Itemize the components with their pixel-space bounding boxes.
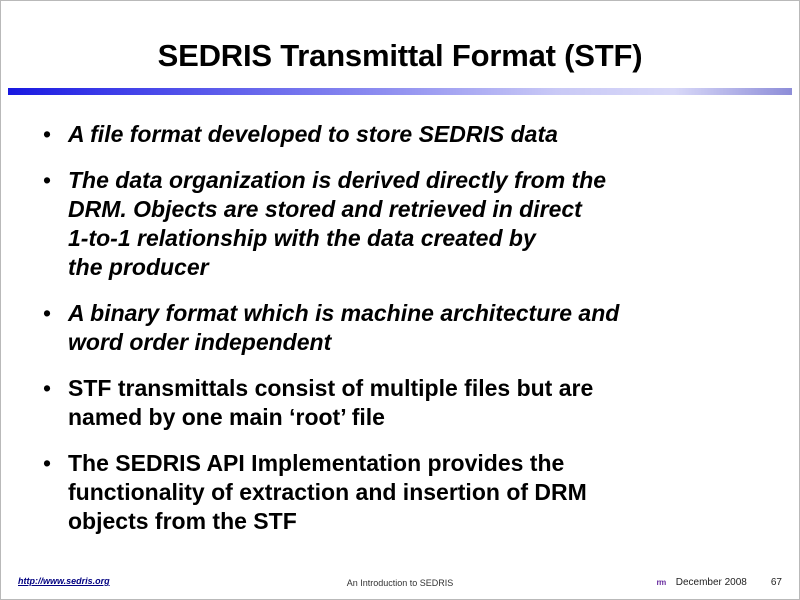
bullet-marker-icon: • bbox=[38, 299, 68, 328]
footer-date: December 2008 bbox=[676, 577, 747, 588]
footer-right-group: rm December 2008 67 bbox=[656, 577, 782, 588]
bullet-marker-icon: • bbox=[38, 120, 68, 149]
list-item-text: The SEDRIS API Implementation provides t… bbox=[68, 449, 778, 536]
list-item-text: STF transmittals consist of multiple fil… bbox=[68, 374, 778, 432]
bullet-marker-icon: • bbox=[38, 449, 68, 478]
bullet-marker-icon: • bbox=[38, 166, 68, 195]
list-item-text: A binary format which is machine archite… bbox=[68, 299, 778, 357]
list-item: • The data organization is derived direc… bbox=[38, 166, 778, 282]
list-item: • The SEDRIS API Implementation provides… bbox=[38, 449, 778, 536]
bullet-marker-icon: • bbox=[38, 374, 68, 403]
list-item: • A file format developed to store SEDRI… bbox=[38, 120, 778, 149]
list-item-text: The data organization is derived directl… bbox=[68, 166, 778, 282]
list-item-text: A file format developed to store SEDRIS … bbox=[68, 120, 778, 149]
list-item: • STF transmittals consist of multiple f… bbox=[38, 374, 778, 432]
page-title: SEDRIS Transmittal Format (STF) bbox=[0, 38, 800, 74]
slide: SEDRIS Transmittal Format (STF) • A file… bbox=[0, 0, 800, 600]
sedris-logo-icon: rm bbox=[656, 578, 665, 587]
bullet-list: • A file format developed to store SEDRI… bbox=[38, 120, 778, 553]
list-item: • A binary format which is machine archi… bbox=[38, 299, 778, 357]
title-divider bbox=[8, 88, 792, 95]
footer-page-number: 67 bbox=[771, 577, 782, 588]
